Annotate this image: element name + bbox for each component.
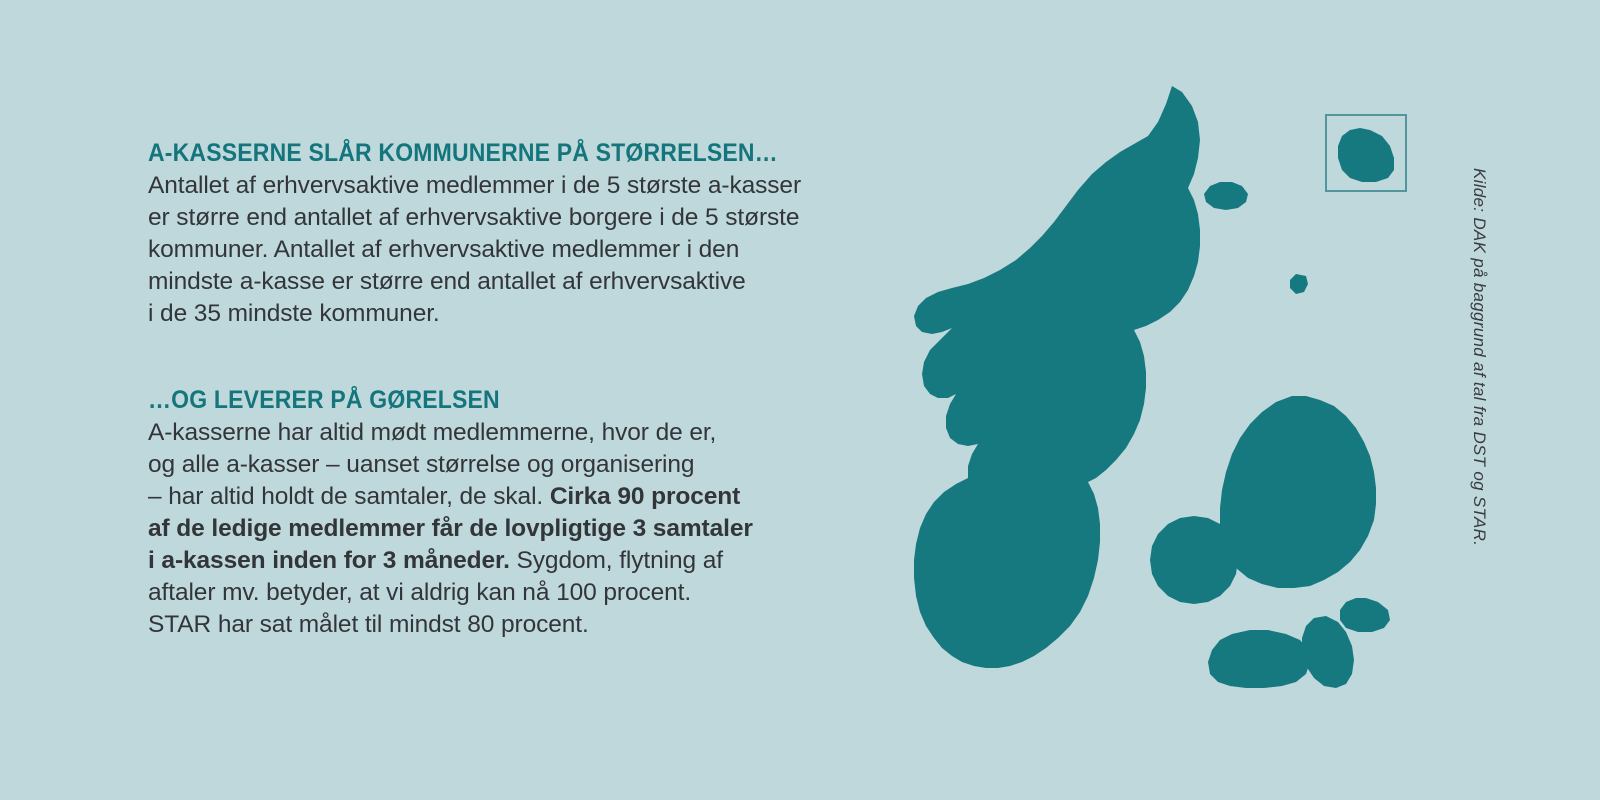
text-block-delivery: …OG LEVERER PÅ GØRELSEN A-kasserne har a…	[148, 385, 908, 641]
heading-delivery: …OG LEVERER PÅ GØRELSEN	[148, 385, 847, 415]
paragraph-size: Antallet af erhvervsaktive medlemmer i d…	[148, 170, 908, 330]
paragraph-emphasis: i a-kassen inden for 3 måneder.	[148, 547, 510, 574]
text-block-size: A-KASSERNE SLÅR KOMMUNERNE PÅ STØRRELSEN…	[148, 138, 908, 330]
paragraph-delivery: A-kasserne har altid mødt medlemmerne, h…	[148, 417, 908, 641]
paragraph-line: i a-kassen inden for 3 måneder. Sygdom, …	[148, 545, 908, 577]
paragraph-emphasis: af de ledige medlemmer får de lovpligtig…	[148, 513, 908, 545]
paragraph-text: Sygdom, flytning af	[510, 547, 723, 574]
region-lolland	[1208, 630, 1310, 688]
infographic-canvas: A-KASSERNE SLÅR KOMMUNERNE PÅ STØRRELSEN…	[0, 0, 1600, 800]
paragraph-line: er større end antallet af erhvervsaktive…	[148, 202, 908, 234]
region-laeso	[1204, 182, 1248, 210]
paragraph-line: – har altid holdt de samtaler, de skal. …	[148, 481, 908, 513]
paragraph-line: mindste a-kasse er større end antallet a…	[148, 266, 908, 298]
region-anholt	[1290, 274, 1308, 294]
region-moen	[1340, 598, 1390, 632]
paragraph-line: A-kasserne har altid mødt medlemmerne, h…	[148, 417, 908, 449]
region-zealand	[1220, 396, 1376, 588]
heading-size: A-KASSERNE SLÅR KOMMUNERNE PÅ STØRRELSEN…	[148, 138, 847, 168]
text-column: A-KASSERNE SLÅR KOMMUNERNE PÅ STØRRELSEN…	[148, 138, 908, 641]
region-bornholm	[1338, 128, 1394, 182]
denmark-map-svg	[880, 78, 1480, 708]
paragraph-line: STAR har sat målet til mindst 80 procent…	[148, 609, 908, 641]
paragraph-line: i de 35 mindste kommuner.	[148, 298, 908, 330]
paragraph-emphasis: Cirka 90 procent	[550, 483, 740, 510]
paragraph-line: aftaler mv. betyder, at vi aldrig kan nå…	[148, 577, 908, 609]
map-of-denmark	[880, 78, 1480, 708]
paragraph-line: og alle a-kasser – uanset størrelse og o…	[148, 449, 908, 481]
paragraph-line: Antallet af erhvervsaktive medlemmer i d…	[148, 170, 908, 202]
paragraph-text: – har altid holdt de samtaler, de skal.	[148, 483, 550, 510]
paragraph-line: kommuner. Antallet af erhvervsaktive med…	[148, 234, 908, 266]
